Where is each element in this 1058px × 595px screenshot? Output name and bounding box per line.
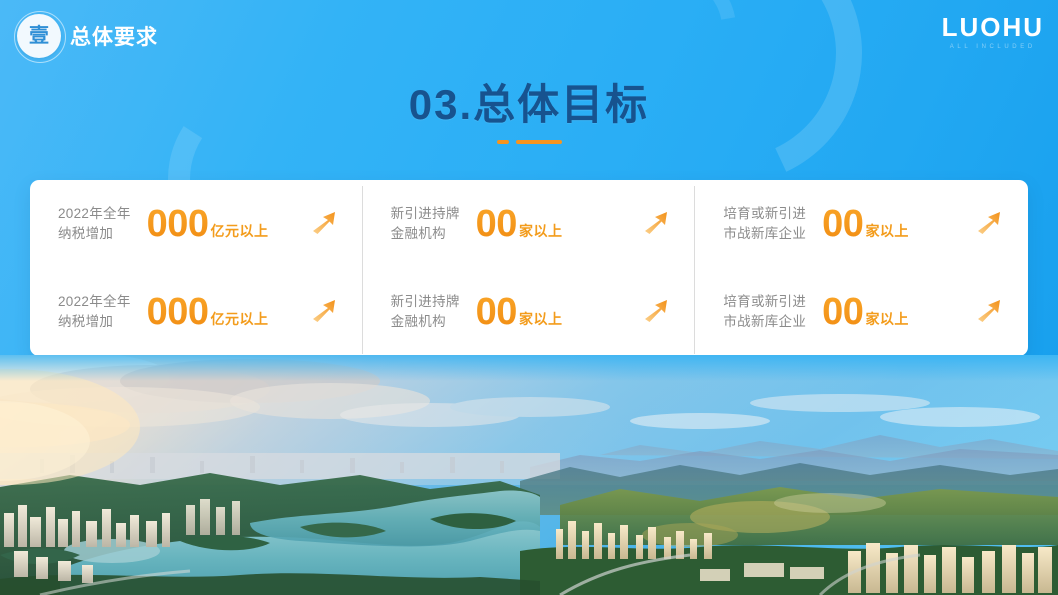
stat-unit: 家以上 <box>519 309 563 329</box>
stats-row: 2022年全年 纳税增加 000 亿元以上 新引进持牌 金融机构 00 <box>30 268 1028 356</box>
title-underline-short <box>497 140 509 144</box>
arrow-up-right-icon <box>641 295 671 330</box>
stats-card: 2022年全年 纳税增加 000 亿元以上 新引进持牌 金融机构 00 <box>30 180 1028 356</box>
arrow-up-right-icon <box>974 207 1004 242</box>
stat-label-line2: 市战新库企业 <box>723 224 806 244</box>
stat-label: 2022年全年 纳税增加 <box>58 292 131 331</box>
section-badge: 壹 <box>14 11 66 63</box>
stat-value: 000 亿元以上 <box>147 205 269 243</box>
arrow-up-right-icon <box>974 295 1004 330</box>
page-title-block: 03.总体目标 <box>0 82 1058 144</box>
stat-label-line1: 培育或新引进 <box>723 204 806 224</box>
stat-unit: 家以上 <box>865 221 909 241</box>
slide-root: 壹 总体要求 LUOHU ALL INCLUDED 03.总体目标 2022年全… <box>0 0 1058 595</box>
stat-unit: 亿元以上 <box>211 309 269 329</box>
stat-label-line2: 金融机构 <box>391 312 460 332</box>
arrow-up-right-icon <box>309 207 339 242</box>
stat-label: 培育或新引进 市战新库企业 <box>723 292 806 331</box>
section-title: 总体要求 <box>70 21 158 51</box>
title-underline <box>0 140 1058 144</box>
arrow-up-right-icon <box>641 207 671 242</box>
stat-label-line2: 金融机构 <box>391 224 460 244</box>
page-title: 03.总体目标 <box>0 82 1058 128</box>
stat-label: 2022年全年 纳税增加 <box>58 204 131 243</box>
stat-number: 00 <box>476 205 517 243</box>
stat-cell: 2022年全年 纳税增加 000 亿元以上 <box>30 204 363 243</box>
stat-number: 00 <box>822 293 863 331</box>
title-underline-long <box>516 140 562 144</box>
stat-unit: 家以上 <box>865 309 909 329</box>
badge-number-label: 壹 <box>17 14 61 58</box>
stat-unit: 家以上 <box>519 221 563 241</box>
stat-label-line2: 纳税增加 <box>58 312 131 332</box>
stat-number: 00 <box>476 293 517 331</box>
stat-label-line2: 纳税增加 <box>58 224 131 244</box>
stat-label-line1: 2022年全年 <box>58 204 131 224</box>
stats-row: 2022年全年 纳税增加 000 亿元以上 新引进持牌 金融机构 00 <box>30 180 1028 268</box>
brand-logo: LUOHU ALL INCLUDED <box>942 14 1044 50</box>
stat-cell: 培育或新引进 市战新库企业 00 家以上 <box>695 292 1028 331</box>
aerial-city-photo <box>0 355 1058 595</box>
stat-label-line1: 2022年全年 <box>58 292 131 312</box>
logo-wordmark: LUOHU <box>942 14 1044 40</box>
stat-value: 00 家以上 <box>822 293 909 331</box>
logo-tagline: ALL INCLUDED <box>942 44 1044 50</box>
stat-value: 000 亿元以上 <box>147 293 269 331</box>
stat-label: 新引进持牌 金融机构 <box>391 204 460 243</box>
stat-cell: 新引进持牌 金融机构 00 家以上 <box>363 204 696 243</box>
stat-unit: 亿元以上 <box>211 221 269 241</box>
stat-value: 00 家以上 <box>476 205 563 243</box>
stat-number: 00 <box>822 205 863 243</box>
stat-label-line2: 市战新库企业 <box>723 312 806 332</box>
stat-label-line1: 新引进持牌 <box>391 204 460 224</box>
stat-cell: 培育或新引进 市战新库企业 00 家以上 <box>695 204 1028 243</box>
stat-value: 00 家以上 <box>476 293 563 331</box>
stat-label-line1: 培育或新引进 <box>723 292 806 312</box>
stat-label: 新引进持牌 金融机构 <box>391 292 460 331</box>
aerial-photo-illustration <box>0 355 1058 595</box>
stat-label: 培育或新引进 市战新库企业 <box>723 204 806 243</box>
stat-number: 000 <box>147 205 209 243</box>
stat-number: 000 <box>147 293 209 331</box>
stat-cell: 新引进持牌 金融机构 00 家以上 <box>363 292 696 331</box>
arrow-up-right-icon <box>309 295 339 330</box>
stat-cell: 2022年全年 纳税增加 000 亿元以上 <box>30 292 363 331</box>
photo-top-fade <box>0 355 1058 381</box>
stat-label-line1: 新引进持牌 <box>391 292 460 312</box>
stat-value: 00 家以上 <box>822 205 909 243</box>
slide-header: 壹 总体要求 LUOHU ALL INCLUDED <box>0 0 1058 68</box>
